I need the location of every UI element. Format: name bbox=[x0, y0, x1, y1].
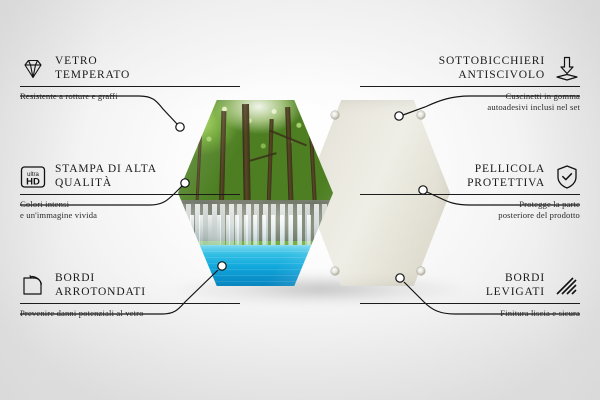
feature-rule bbox=[360, 194, 580, 195]
svg-text:HD: HD bbox=[26, 176, 40, 187]
feature-title-line2: PROTETTIVA bbox=[467, 177, 545, 191]
feature-bordi-arrotondati: BORDI ARROTONDATI Prevenire danni potenz… bbox=[20, 272, 240, 319]
feature-rule bbox=[20, 303, 240, 304]
feature-desc-line1: Cuscinetti in gomma bbox=[360, 91, 580, 102]
feature-rule bbox=[20, 86, 240, 87]
feature-desc-line1: Colori intensi bbox=[20, 199, 240, 210]
feature-stampa-alta-qualita: ultra HD STAMPA DI ALTA QUALITÀ Colori i… bbox=[20, 163, 240, 221]
feature-vetro-temperato: VETRO TEMPERATO Resistente a rotture e g… bbox=[20, 55, 240, 102]
feature-desc-line2: autoadesivi inclusi nel set bbox=[360, 102, 580, 113]
feature-title-line1: PELLICOLA bbox=[467, 163, 545, 177]
feature-title-line1: SOTTOBICCHIERI bbox=[439, 55, 545, 69]
feature-rule bbox=[20, 194, 240, 195]
feature-sottobicchieri-antiscivolo: SOTTOBICCHIERI ANTISCIVOLO Cuscinetti in… bbox=[360, 55, 580, 113]
diamond-icon bbox=[20, 56, 46, 82]
feature-desc-line1: Protegge la parte bbox=[360, 199, 580, 210]
feature-desc-line1: Finitura liscia e sicura bbox=[360, 308, 580, 319]
feature-title-line2: ANTISCIVOLO bbox=[439, 69, 545, 83]
feature-title-line1: BORDI bbox=[486, 272, 545, 286]
ultra-hd-badge-icon: ultra HD bbox=[20, 164, 46, 190]
feature-title-line1: BORDI bbox=[55, 272, 146, 286]
feature-desc-line1: Prevenire danni potenziali al vetro bbox=[20, 308, 240, 319]
feature-desc-line2: posteriore del prodotto bbox=[360, 210, 580, 221]
shield-check-icon bbox=[554, 164, 580, 190]
feature-rule bbox=[360, 303, 580, 304]
feature-title-line2: LEVIGATI bbox=[486, 286, 545, 300]
rounded-corner-icon bbox=[20, 273, 46, 299]
feature-rule bbox=[360, 86, 580, 87]
feature-bordi-levigati: BORDI LEVIGATI Finitura liscia e sicura bbox=[360, 272, 580, 319]
feature-pellicola-protettiva: PELLICOLA PROTETTIVA Protegge la parte p… bbox=[360, 163, 580, 221]
diagonal-hatch-icon bbox=[554, 273, 580, 299]
feature-title-line1: VETRO bbox=[55, 55, 130, 69]
infographic-canvas: VETRO TEMPERATO Resistente a rotture e g… bbox=[0, 0, 600, 400]
feature-title-line1: STAMPA DI ALTA bbox=[55, 163, 157, 177]
feature-desc-line2: e un'immagine vivida bbox=[20, 210, 240, 221]
feature-title-line2: ARROTONDATI bbox=[55, 286, 146, 300]
feature-title-line2: QUALITÀ bbox=[55, 177, 157, 191]
press-pad-icon bbox=[554, 56, 580, 82]
feature-title-line2: TEMPERATO bbox=[55, 69, 130, 83]
feature-desc-line1: Resistente a rotture e graffi bbox=[20, 91, 240, 102]
